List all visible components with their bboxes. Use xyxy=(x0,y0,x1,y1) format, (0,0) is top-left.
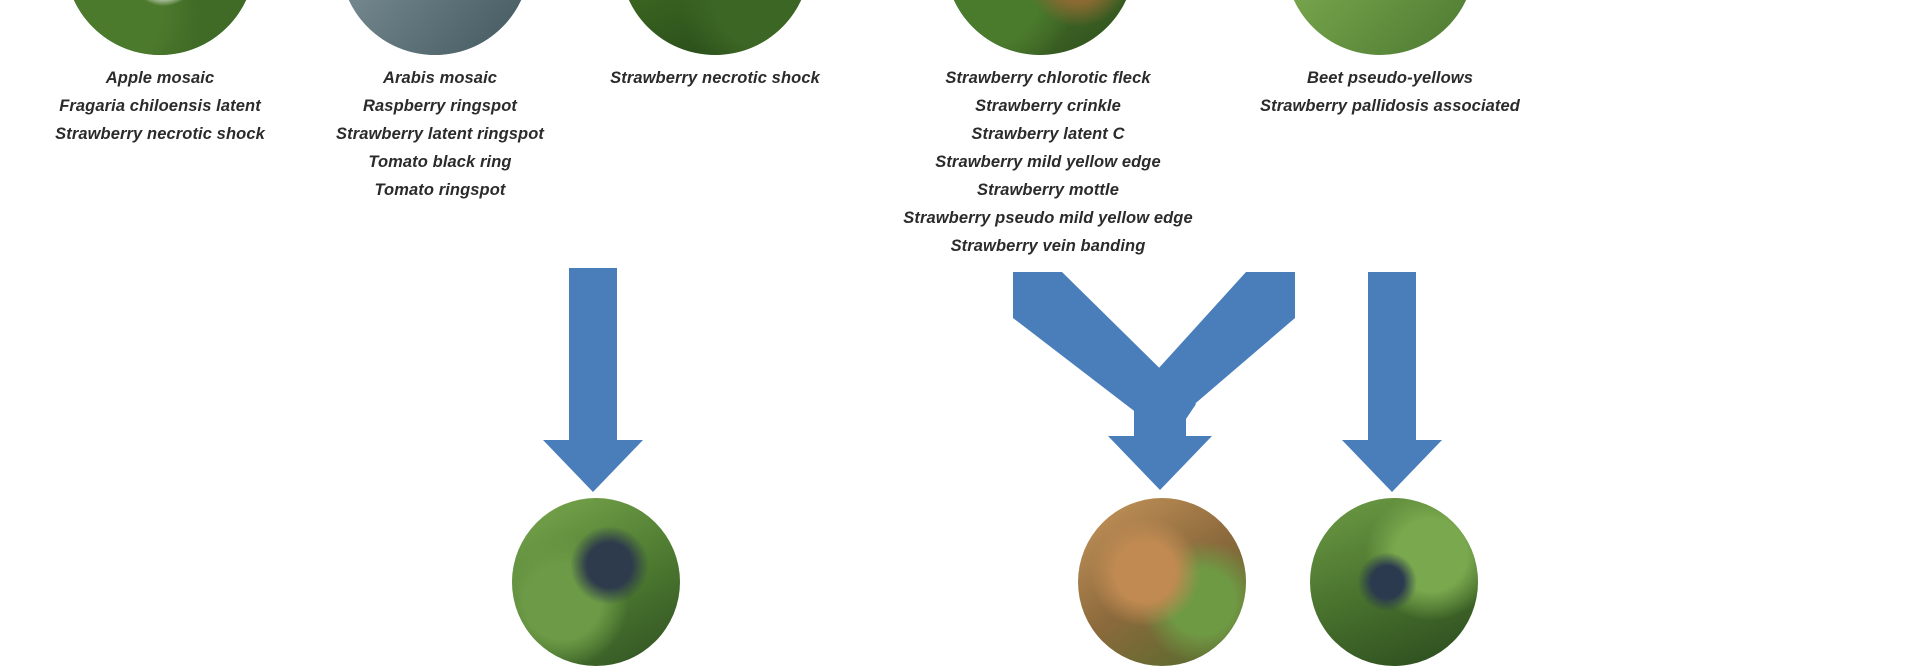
arrow-branch-y xyxy=(1013,272,1295,490)
vector-soil-photo xyxy=(1078,498,1246,666)
vector-whitefly-photo xyxy=(1310,498,1478,666)
caption-line: Raspberry ringspot xyxy=(280,92,600,120)
vector-aphid-image xyxy=(512,498,680,666)
caption-line: Strawberry mottle xyxy=(858,176,1238,204)
strawberry-chlorotic-fleck-image xyxy=(945,0,1135,55)
bottom-photo-row xyxy=(0,498,1920,634)
caption-group: Apple mosaic Fragaria chiloensis latent … xyxy=(0,56,1920,266)
top-photo-row xyxy=(0,0,1920,50)
caption-line: Fragaria chiloensis latent xyxy=(0,92,320,120)
caption-line: Tomato ringspot xyxy=(280,176,600,204)
caption-line: Beet pseudo-yellows xyxy=(1190,64,1590,92)
strawberry-necrotic-shock-image xyxy=(620,0,810,55)
apple-mosaic-image xyxy=(65,0,255,55)
caption-line: Strawberry chlorotic fleck xyxy=(858,64,1238,92)
beet-pseudo-yellows-image xyxy=(1285,0,1475,55)
strawberry-necrotic-shock-photo xyxy=(620,0,810,55)
strawberry-chlorotic-fleck-photo xyxy=(945,0,1135,55)
arabis-mosaic-photo xyxy=(340,0,530,55)
vector-whitefly-image xyxy=(1310,498,1478,666)
caption-line: Strawberry necrotic shock xyxy=(0,120,320,148)
caption-line: Strawberry crinkle xyxy=(858,92,1238,120)
caption-column-2: Arabis mosaic Raspberry ringspot Strawbe… xyxy=(280,64,600,204)
beet-pseudo-yellows-photo xyxy=(1285,0,1475,55)
caption-line: Arabis mosaic xyxy=(280,64,600,92)
caption-line: Strawberry latent C xyxy=(858,120,1238,148)
caption-column-1: Apple mosaic Fragaria chiloensis latent … xyxy=(0,64,320,148)
caption-line: Strawberry pallidosis associated xyxy=(1190,92,1590,120)
caption-line: Strawberry mild yellow edge xyxy=(858,148,1238,176)
caption-line: Apple mosaic xyxy=(0,64,320,92)
arabis-mosaic-image xyxy=(340,0,530,55)
caption-column-4: Strawberry chlorotic fleck Strawberry cr… xyxy=(858,64,1238,260)
arrow-down-left xyxy=(543,268,643,492)
apple-mosaic-photo xyxy=(65,0,255,55)
vector-soil-image xyxy=(1078,498,1246,666)
caption-line: Strawberry necrotic shock xyxy=(560,64,870,92)
caption-line: Strawberry latent ringspot xyxy=(280,120,600,148)
caption-column-5: Beet pseudo-yellows Strawberry pallidosi… xyxy=(1190,64,1590,120)
caption-line: Strawberry vein banding xyxy=(858,232,1238,260)
caption-line: Strawberry pseudo mild yellow edge xyxy=(858,204,1238,232)
vector-aphid-photo xyxy=(512,498,680,666)
caption-line: Tomato black ring xyxy=(280,148,600,176)
arrow-down-right xyxy=(1342,272,1442,492)
caption-column-3: Strawberry necrotic shock xyxy=(560,64,870,92)
